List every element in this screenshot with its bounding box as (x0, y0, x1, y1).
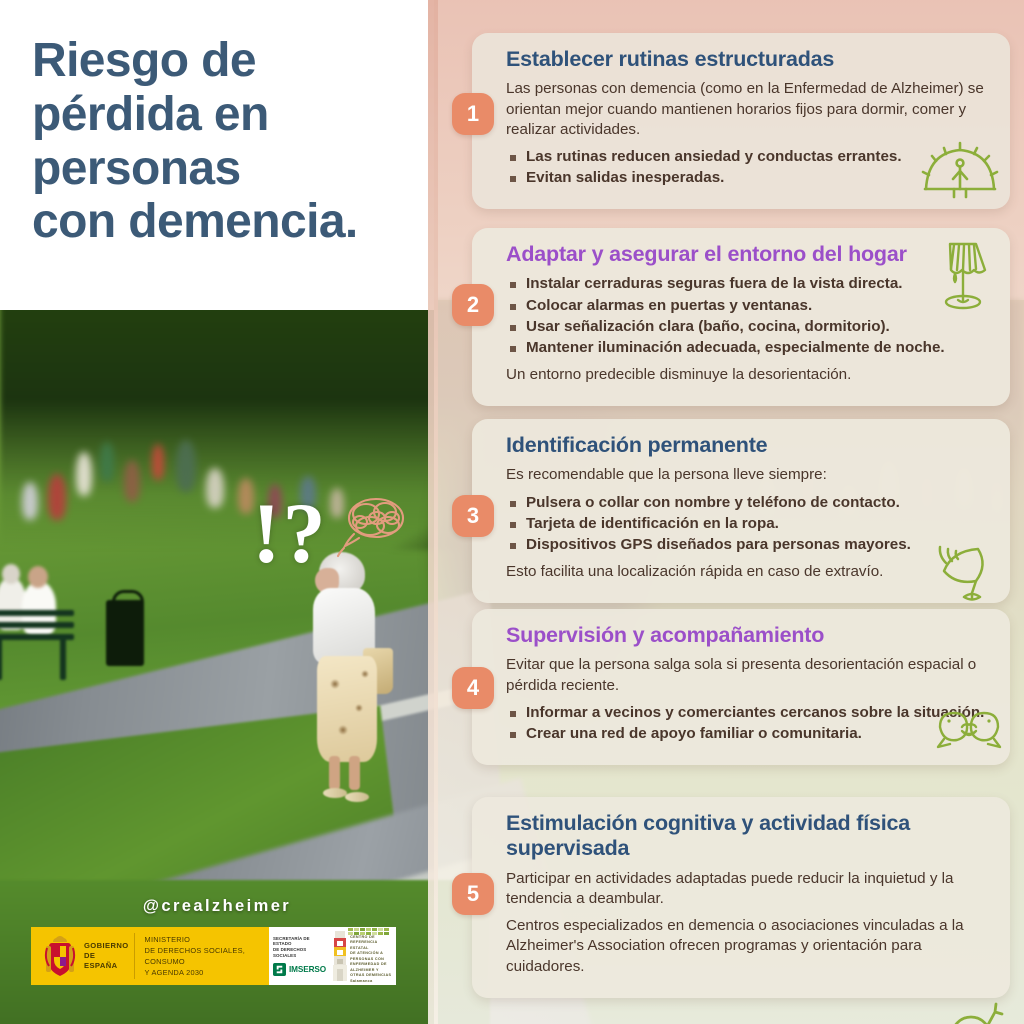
list-item: Crear una red de apoyo familiar o comuni… (506, 724, 988, 744)
secretaria-line-1: SECRETARÍA DE ESTADO (273, 936, 326, 947)
ministerio-line-3: Y AGENDA 2030 (145, 967, 269, 978)
list-item: Colocar alarmas en puertas y ventanas. (506, 296, 988, 316)
crea-line-2: REFERENCIA ESTATAL (350, 940, 394, 951)
tip-card-2-bullets: Instalar cerraduras seguras fuera de la … (506, 274, 988, 358)
tip-card-4[interactable]: Supervisión y acompañamiento Evitar que … (472, 609, 1010, 765)
page-title: Riesgo de pérdida en personas con demenc… (32, 34, 412, 249)
title-panel: Riesgo de pérdida en personas con demenc… (0, 0, 434, 310)
list-item: Instalar cerraduras seguras fuera de la … (506, 274, 988, 294)
ministerio-text: MINISTERIO DE DERECHOS SOCIALES, CONSUMO… (145, 934, 269, 978)
list-item: Dispositivos GPS diseñados para personas… (506, 535, 988, 555)
list-item: Pulsera o collar con nombre y teléfono d… (506, 493, 988, 513)
title-line-3: personas (32, 142, 412, 196)
imserso-wordmark: IMSERSO (289, 965, 326, 974)
tip-card-5-intro: Participar en actividades adaptadas pued… (506, 869, 988, 909)
step-badge-2: 2 (452, 284, 494, 326)
imserso-block: SECRETARÍA DE ESTADO DE DERECHOS SOCIALE… (269, 927, 330, 985)
scribble-thought-bubble-icon (330, 494, 414, 568)
tip-card-1[interactable]: Establecer rutinas estructuradas Las per… (472, 33, 1010, 209)
photo-park-bench (0, 592, 80, 682)
gobierno-line-1: GOBIERNO (84, 941, 129, 951)
photo-trash-bin (106, 600, 144, 666)
gobierno-ministerio-block: GOBIERNO DE ESPAÑA MINISTERIO DE DERECHO… (31, 927, 269, 985)
ministerio-line-1: MINISTERIO (145, 934, 269, 945)
ministerio-line-2: DE DERECHOS SOCIALES, CONSUMO (145, 945, 269, 967)
social-handle: @crealzheimer (0, 897, 434, 916)
title-line-1: Riesgo de (32, 34, 412, 88)
secretaria-text: SECRETARÍA DE ESTADO DE DERECHOS SOCIALE… (273, 936, 326, 959)
tip-card-3-outro: Esto facilita una localización rápida en… (506, 562, 988, 582)
list-item: Mantener iluminación adecuada, especialm… (506, 338, 988, 358)
photo-elderly-woman-walking (305, 552, 397, 802)
tip-card-4-intro: Evitar que la persona salga sola si pres… (506, 655, 988, 695)
tip-card-2-heading: Adaptar y asegurar el entorno del hogar (506, 242, 988, 267)
panel-left-edge-stripe (428, 0, 438, 1024)
imserso-logo-icon (273, 963, 286, 976)
spain-coat-of-arms-icon (43, 934, 77, 978)
tip-card-2[interactable]: Adaptar y asegurar el entorno del hogar … (472, 228, 1010, 406)
gobierno-line-2: DE ESPAÑA (84, 951, 129, 970)
tip-card-3-bullets: Pulsera o collar con nombre y teléfono d… (506, 493, 988, 556)
tip-card-1-bullets: Las rutinas reducen ansiedad y conductas… (506, 147, 988, 189)
tip-card-4-heading: Supervisión y acompañamiento (506, 623, 988, 648)
tip-card-5-heading: Estimulación cognitiva y actividad físic… (506, 811, 988, 862)
list-item: Usar señalización clara (baño, cocina, d… (506, 317, 988, 337)
list-item: Informar a vecinos y comerciantes cercan… (506, 703, 988, 723)
tip-card-3[interactable]: Identificación permanente Es recomendabl… (472, 419, 1010, 603)
crea-colorbars-icon (348, 928, 392, 935)
crea-alzheimer-block: CENTRO DE REFERENCIA ESTATAL DE ATENCIÓN… (330, 927, 396, 985)
list-item: Evitan salidas inesperadas. (506, 168, 988, 188)
imserso-row: IMSERSO (273, 963, 326, 976)
tip-card-3-heading: Identificación permanente (506, 433, 988, 458)
tip-card-3-intro: Es recomendable que la persona lleve sie… (506, 465, 988, 485)
tip-card-1-heading: Establecer rutinas estructuradas (506, 47, 988, 72)
crea-tower-icon (332, 931, 348, 981)
step-badge-5: 5 (452, 873, 494, 915)
gobierno-text: GOBIERNO DE ESPAÑA (84, 941, 129, 970)
step-badge-4: 4 (452, 667, 494, 709)
title-line-2: pérdida en (32, 88, 412, 142)
crea-line-8: Salamanca (350, 979, 394, 985)
title-line-4: con demencia. (32, 195, 412, 249)
institutional-logo-bar: GOBIERNO DE ESPAÑA MINISTERIO DE DERECHO… (31, 927, 361, 985)
step-badge-1: 1 (452, 93, 494, 135)
list-item: Las rutinas reducen ansiedad y conductas… (506, 147, 988, 167)
crea-text: CENTRO DE REFERENCIA ESTATAL DE ATENCIÓN… (350, 935, 394, 985)
tip-card-5-outro: Centros especializados en demencia o aso… (506, 916, 988, 977)
tip-card-5[interactable]: Estimulación cognitiva y actividad físic… (472, 797, 1010, 998)
tip-card-1-intro: Las personas con demencia (como en la En… (506, 79, 988, 140)
secretaria-line-2: DE DERECHOS SOCIALES (273, 947, 326, 958)
infographic-poster: !? Riesgo de pérdida en personas con dem… (0, 0, 1024, 1024)
list-item: Tarjeta de identificación en la ropa. (506, 514, 988, 534)
tip-card-2-outro: Un entorno predecible disminuye la desor… (506, 365, 988, 385)
exclamation-question-mark: !? (252, 490, 328, 576)
tip-card-4-bullets: Informar a vecinos y comerciantes cercan… (506, 703, 988, 745)
step-badge-3: 3 (452, 495, 494, 537)
